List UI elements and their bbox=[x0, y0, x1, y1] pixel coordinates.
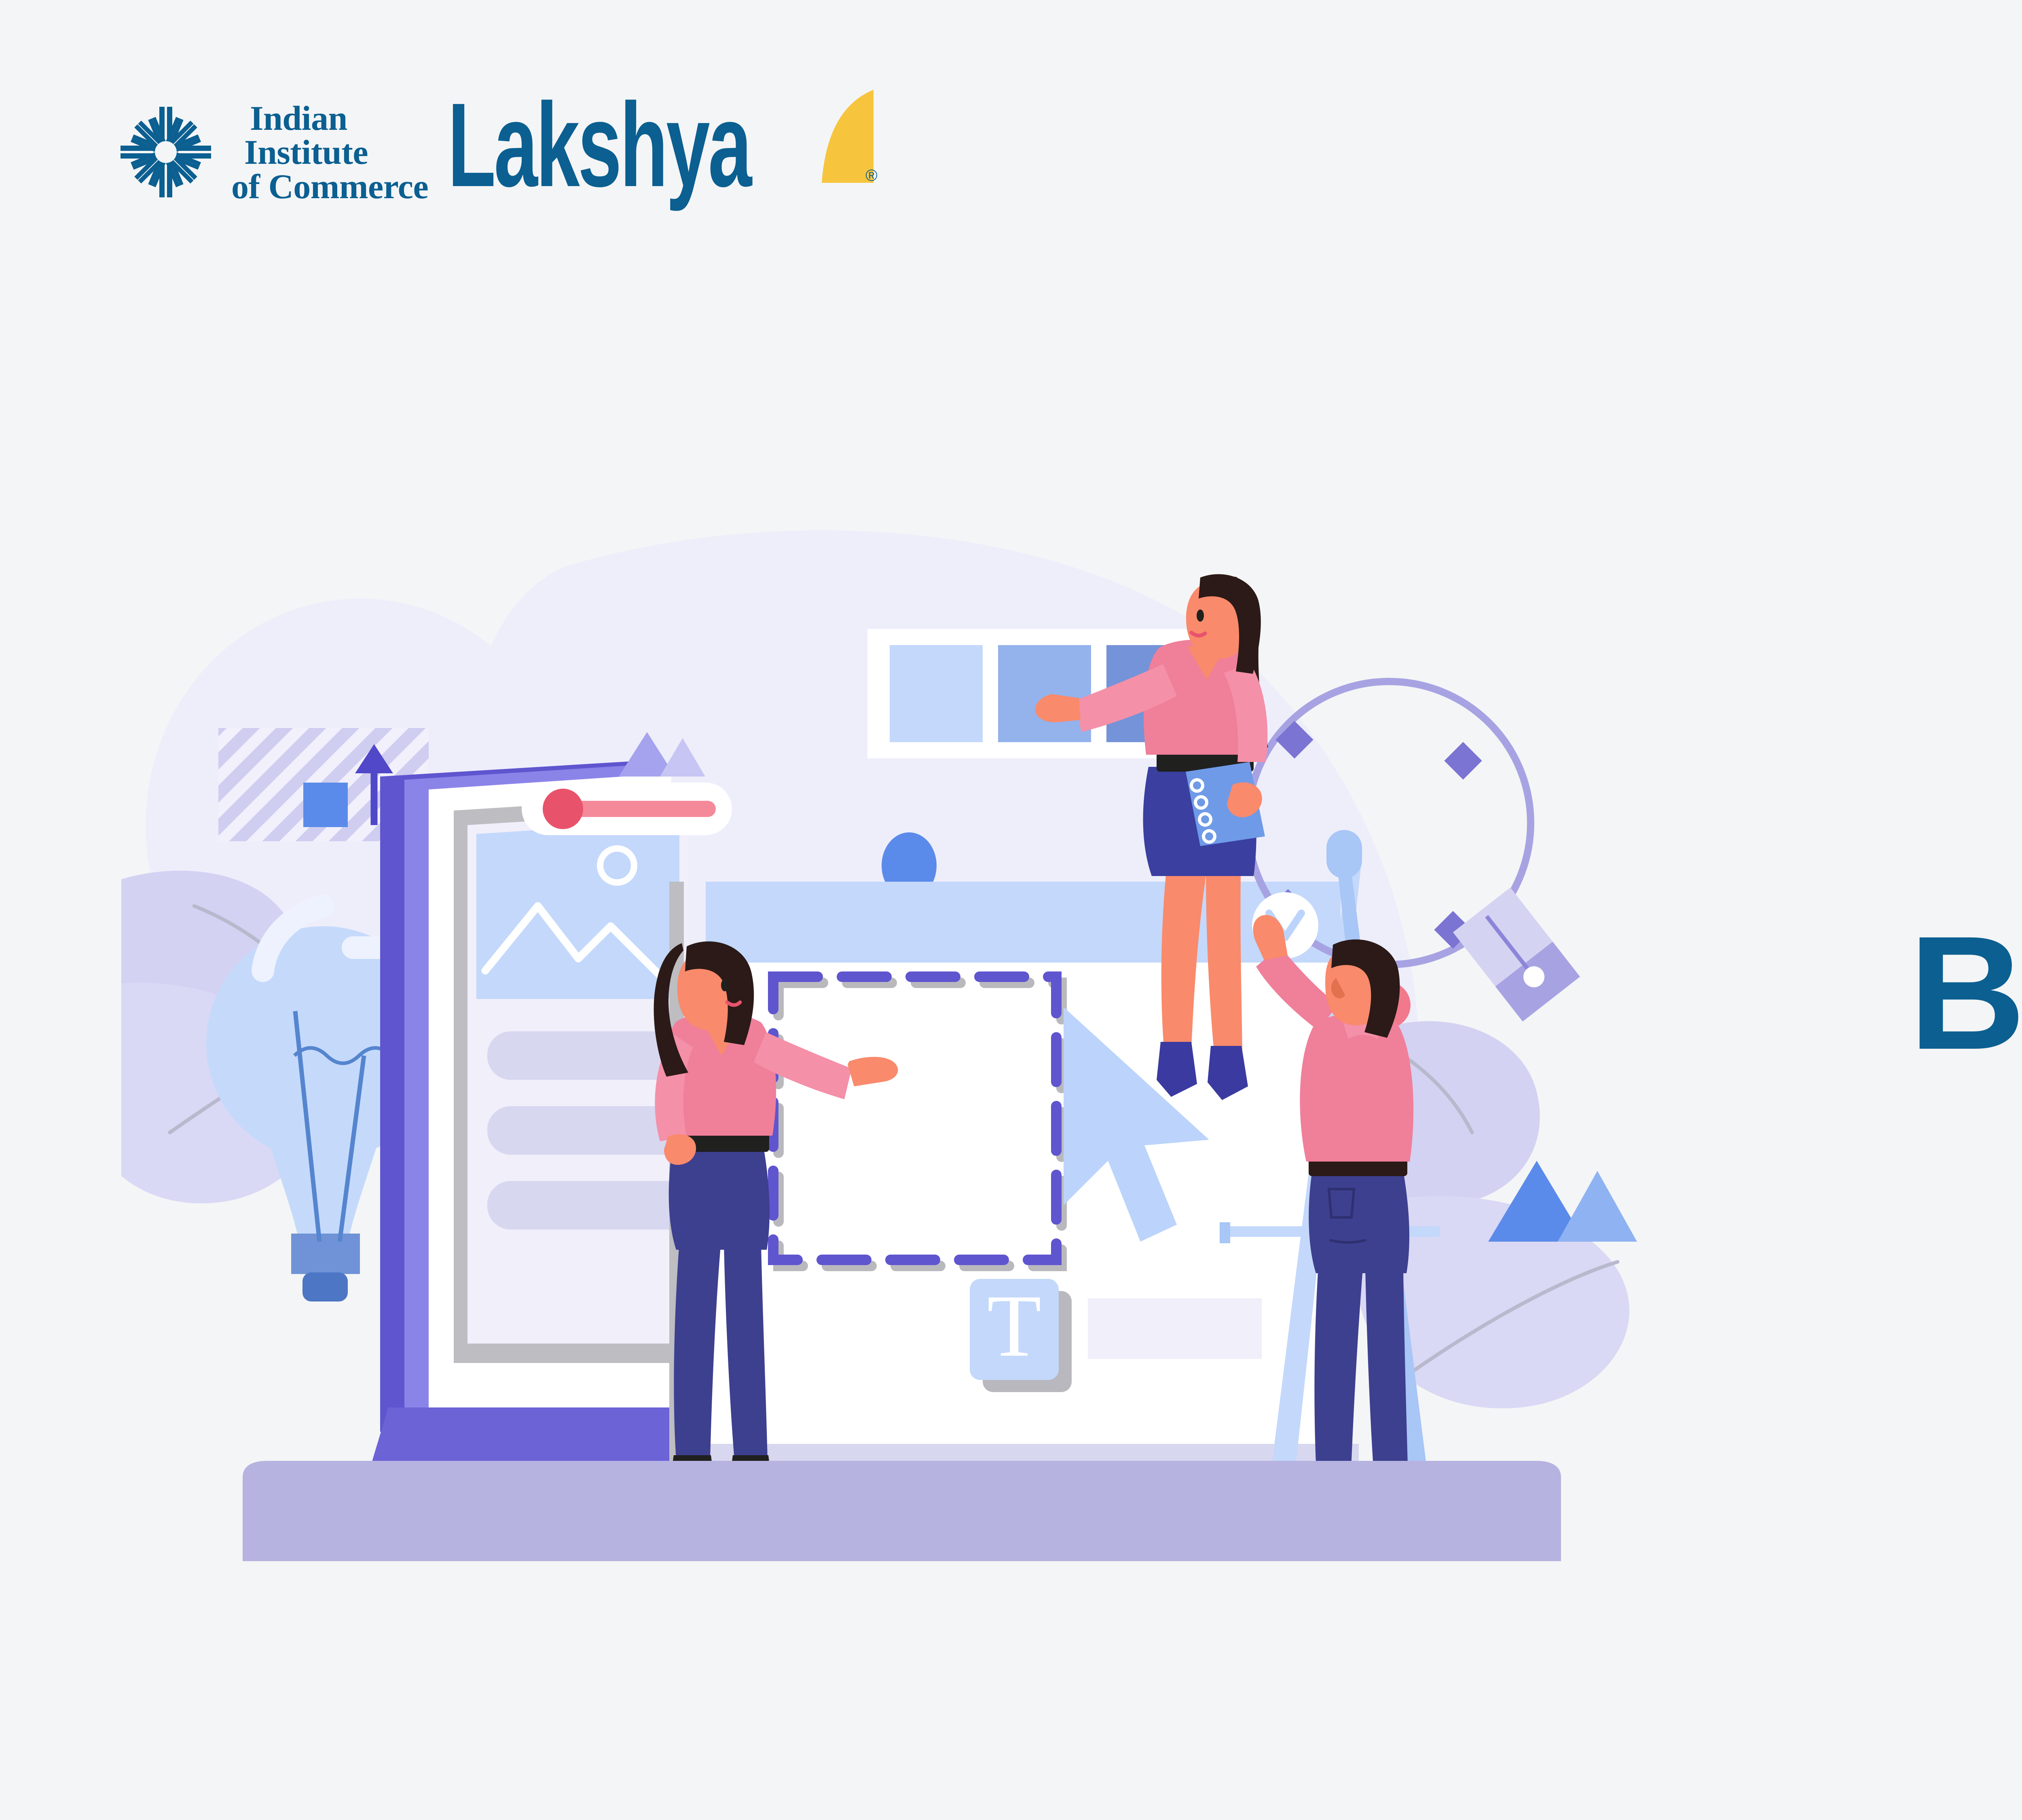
institute-line-1: Indian bbox=[231, 101, 428, 135]
lakshya-wordmark: Lakshya ® bbox=[448, 111, 835, 194]
brand-logo-lockup: Indian Institute of Commerce Lakshya ® bbox=[117, 101, 835, 203]
board-header-bar bbox=[706, 882, 1341, 963]
swatch-2 bbox=[998, 645, 1091, 742]
institute-line-3: of Commerce bbox=[231, 169, 428, 203]
pen-nib-tool-icon bbox=[1453, 887, 1580, 1021]
institute-wordmark: Indian Institute of Commerce bbox=[231, 101, 428, 203]
floor-platform bbox=[243, 1461, 1561, 1561]
institute-line-2: Institute bbox=[231, 135, 428, 169]
image-placeholder bbox=[476, 821, 679, 999]
lakshya-text: Lakshya bbox=[448, 96, 750, 194]
slider-control bbox=[522, 783, 732, 835]
branding-illustration: T bbox=[121, 518, 1820, 1610]
typography-glyph: T bbox=[987, 1276, 1041, 1375]
swatch-1 bbox=[890, 645, 983, 742]
iic-starburst-mark bbox=[117, 104, 214, 201]
registered-trademark-symbol: ® bbox=[865, 167, 877, 185]
page-title: Branding bbox=[1909, 912, 2022, 1074]
